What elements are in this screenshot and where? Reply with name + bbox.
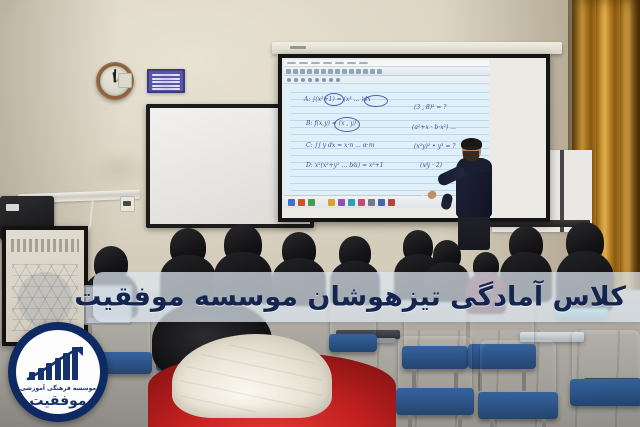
clock-center-pin [114, 80, 117, 83]
projector-screen: A: ∫(x²+1) = (x³ ... )dx (3 , 8)² = ? B:… [278, 54, 550, 222]
logo-inner-circle: موسسه فرهنگی آموزشی موفقیت [16, 330, 100, 414]
growth-arrow-icon [26, 346, 88, 382]
ink-circle-annotation [324, 93, 344, 106]
handwritten-equation: C: ∫∫ y dx = x·n ... α·m [306, 142, 374, 149]
chair-leg [490, 419, 494, 427]
chair-back [398, 336, 472, 389]
app-toolbar [284, 67, 489, 76]
projection-surface: A: ∫(x²+1) = (x³ ... )dx (3 , 8)² = ? B:… [282, 58, 546, 218]
logo-institute-line: موسسه فرهنگی آموزشی [16, 385, 100, 392]
wall-socket-lower [120, 196, 135, 212]
chair-back [572, 330, 640, 381]
handwritten-equation: (3 , 8)² = ? [414, 104, 447, 111]
certificate-heading-text [11, 239, 80, 252]
app-secondary-toolbar [284, 76, 489, 84]
chair-seat [396, 388, 474, 416]
ink-circle-annotation [334, 117, 360, 132]
handwritten-equation: (a²+x · b·x²) ... [412, 124, 456, 131]
ink-circle-annotation [364, 95, 388, 107]
logo-name: موفقیت [16, 393, 100, 409]
classroom-chair [480, 340, 556, 427]
housing-label [290, 46, 306, 49]
handwritten-equation: D: x²(x²+y² … b⁄a) = x²+1 [306, 162, 384, 169]
chair-back [480, 340, 556, 393]
projector-screen-housing [272, 42, 562, 54]
teacher-glasses-icon [464, 146, 478, 149]
handwritten-equation: (x⁄y · 2) [420, 162, 442, 169]
student-red-white-jacket [148, 334, 396, 427]
teacher-forearm [440, 193, 453, 211]
wall-socket-upper [118, 73, 132, 88]
chair-seat [478, 392, 559, 420]
app-menubar [284, 60, 489, 67]
promo-banner-text: کلاس آمادگی تیزهوشان موسسه موفقیت [74, 284, 626, 311]
classroom-chair [572, 330, 640, 418]
teacher-figure [440, 138, 500, 248]
wall-scuff-secondary [90, 150, 150, 190]
chair-leg [458, 415, 462, 427]
institute-logo: موسسه فرهنگی آموزشی موفقیت [8, 322, 108, 422]
classroom-chair [398, 336, 472, 427]
chair-leg [542, 419, 546, 427]
promo-banner: کلاس آمادگی تیزهوشان موسسه موفقیت [93, 272, 640, 322]
chair-leg [408, 415, 412, 427]
teacher-beard [463, 151, 479, 162]
certificate-hexagon-pattern [12, 264, 78, 331]
chair-seat [570, 379, 640, 405]
framed-notice-icon [147, 69, 185, 93]
monitor-label [6, 204, 19, 211]
classroom-photo: A: ∫(x²+1) = (x³ ... )dx (3 , 8)² = ? B:… [0, 0, 640, 427]
